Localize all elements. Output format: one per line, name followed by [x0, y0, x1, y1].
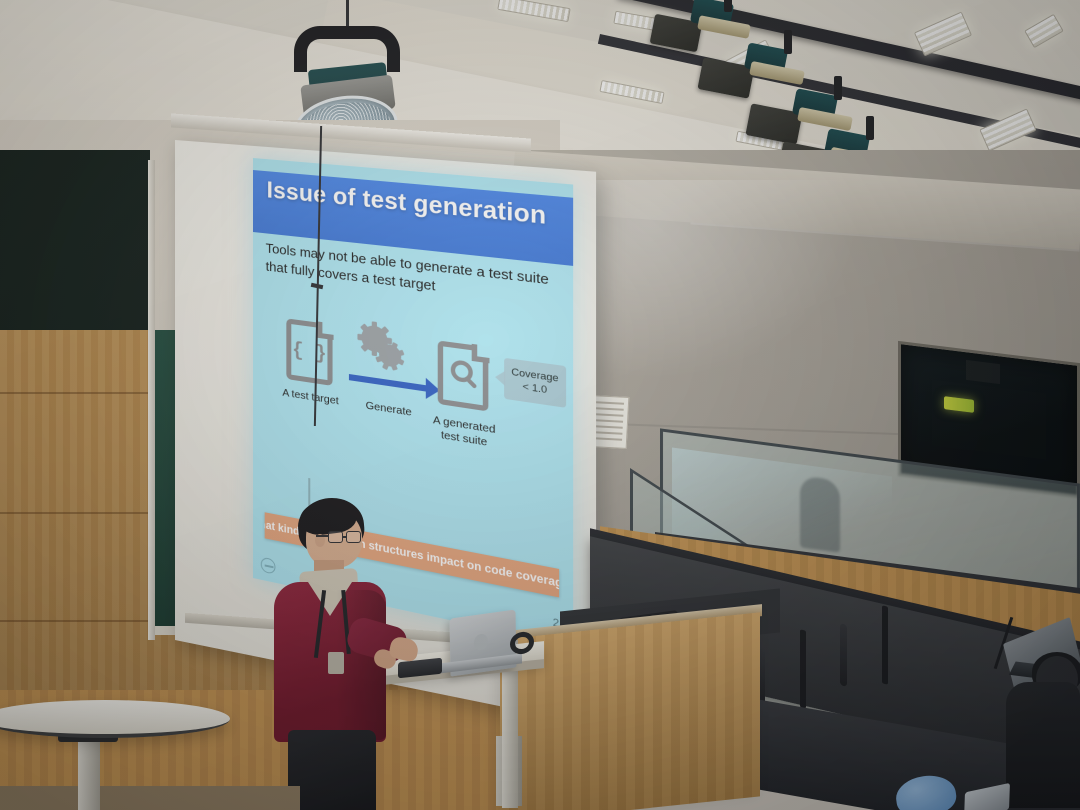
diagram-label-generated-suite: A generated test suite	[408, 410, 523, 456]
glasses-icon	[328, 531, 362, 544]
wall-light-glow	[560, 180, 860, 380]
coverage-value: < 1.0	[523, 381, 548, 397]
screen-frame-post	[148, 160, 155, 640]
dark-doorway	[0, 150, 150, 340]
braces-glyph: { }	[286, 318, 332, 386]
floor	[0, 786, 300, 810]
document-icon-test-target: { }	[286, 318, 332, 386]
gears-icon	[361, 324, 407, 374]
booth-ceiling-fixture	[966, 360, 1000, 384]
desk-stanchion	[840, 623, 847, 687]
lecture-hall-photo: Issue of test generation Tools may not b…	[0, 0, 1080, 810]
audience-body	[1006, 682, 1080, 808]
coverage-callout-bubble: Coverage < 1.0	[504, 358, 566, 408]
desk-divider	[882, 605, 888, 684]
presenter-trousers	[288, 730, 376, 810]
table-pedestal-stem	[78, 738, 100, 810]
presenter	[270, 498, 400, 810]
glass-reflection-silhouette	[800, 475, 840, 552]
name-badge	[328, 652, 344, 674]
right-arrow-icon	[349, 374, 427, 392]
diagram-label-test-target: A test target	[259, 383, 364, 413]
document-icon-generated-suite	[438, 340, 489, 411]
desk-divider	[800, 629, 806, 708]
slide-diagram: { }	[253, 308, 573, 525]
audience-member	[992, 656, 1080, 806]
